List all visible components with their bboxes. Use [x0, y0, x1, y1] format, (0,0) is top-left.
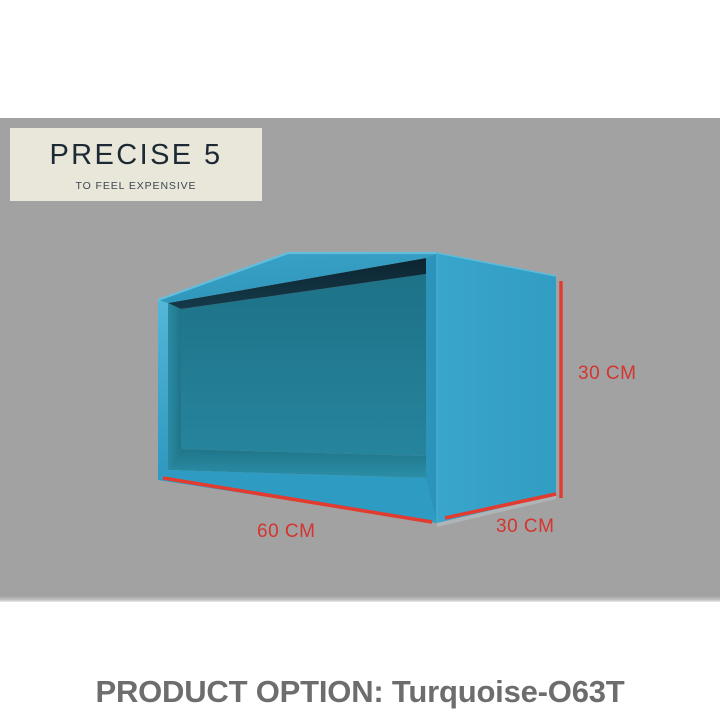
- dimension-label-width: 60 CM: [257, 521, 315, 543]
- cabinet-right-panel: [437, 253, 556, 523]
- brand-tagline: TO FEEL EXPENSIVE: [76, 180, 197, 192]
- brand-name: PRECISE 5: [49, 141, 222, 170]
- interior-left-wall: [168, 303, 181, 470]
- brand-plaque: PRECISE 5 TO FEEL EXPENSIVE: [10, 128, 262, 201]
- product-option-caption: PRODUCT OPTION: Turquoise-O63T: [95, 674, 624, 710]
- caption-bar: PRODUCT OPTION: Turquoise-O63T: [0, 602, 720, 720]
- dimension-label-height: 30 CM: [578, 363, 636, 385]
- cabinet-front-left-stile: [158, 300, 168, 480]
- cabinet-front-right-face: [426, 253, 437, 523]
- dimension-label-depth: 30 CM: [496, 516, 554, 538]
- screenshot-root: PRECISE 5 TO FEEL EXPENSIVE 30 CM 60 CM …: [0, 0, 720, 720]
